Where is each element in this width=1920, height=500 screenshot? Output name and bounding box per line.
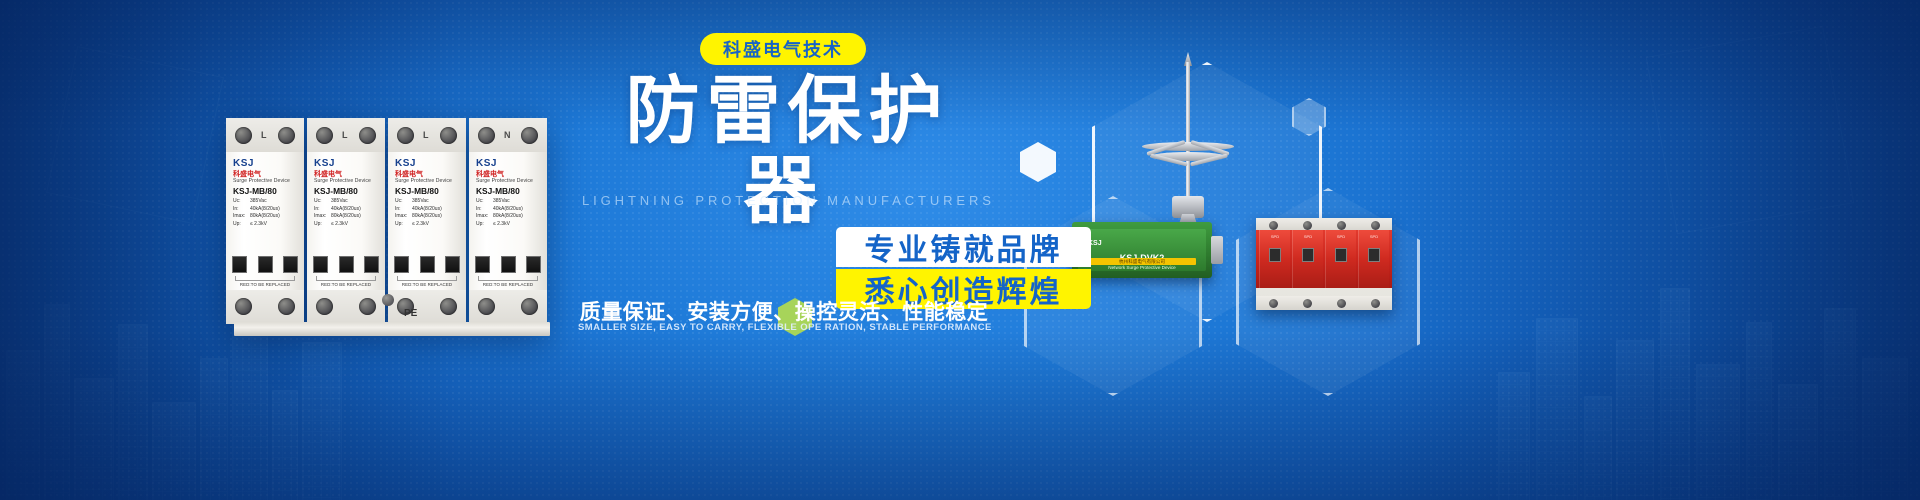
feature-text-english: SMALLER SIZE, EASY TO CARRY, FLEXIBLE OP…	[578, 322, 990, 333]
brand-badge: 科盛电气技术	[700, 33, 866, 65]
slogan-line-1: 专业铸就品牌	[836, 227, 1091, 267]
banner-text-block: 科盛电气技术 防雷保护器 LIGHTNING PROTECTION MANUFA…	[0, 0, 1920, 500]
english-subtitle: LIGHTNING PROTECTION MANUFACTURERS	[582, 193, 986, 208]
promo-banner: KSJ KSJ-DVK2 Network Surge Protective De…	[0, 0, 1920, 500]
